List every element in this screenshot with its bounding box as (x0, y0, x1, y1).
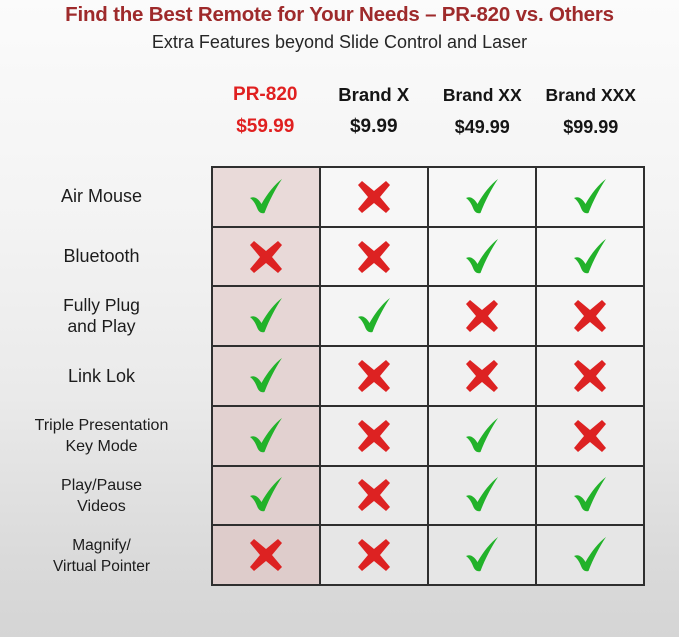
column-price: $99.99 (563, 114, 618, 140)
cross-icon (355, 238, 393, 276)
table-cell (321, 287, 429, 345)
cross-icon (355, 476, 393, 514)
column-header-brand-x: Brand X $9.99 (320, 82, 429, 162)
table-cell (321, 347, 429, 405)
check-icon (460, 176, 504, 218)
cross-icon (355, 357, 393, 395)
table-row (213, 407, 643, 467)
check-icon (244, 355, 288, 397)
feature-label-text: Fully Plugand Play (0, 295, 203, 337)
table-cell (429, 228, 537, 286)
feature-label-text: Bluetooth (0, 246, 203, 267)
column-headers: PR-820 $59.99 Brand X $9.99 Brand XX $49… (211, 82, 645, 162)
cross-icon (463, 357, 501, 395)
table-cell (429, 407, 537, 465)
table-cell (213, 467, 321, 525)
column-price: $59.99 (236, 114, 294, 140)
check-icon (568, 474, 612, 516)
table-cell (213, 168, 321, 226)
feature-label-link-lok: Link Lok (0, 346, 207, 406)
table-cell (321, 526, 429, 584)
table-row (213, 347, 643, 407)
table-cell (321, 168, 429, 226)
check-icon (352, 295, 396, 337)
table-cell (429, 526, 537, 584)
table-cell (321, 228, 429, 286)
table-cell (537, 287, 643, 345)
table-row (213, 467, 643, 527)
cross-icon (571, 357, 609, 395)
check-icon (460, 534, 504, 576)
check-icon (460, 236, 504, 278)
cross-icon (355, 536, 393, 574)
cross-icon (355, 178, 393, 216)
table-cell (537, 347, 643, 405)
check-icon (568, 534, 612, 576)
column-header-brand-xxx: Brand XXX $99.99 (537, 82, 646, 162)
table-cell (213, 526, 321, 584)
check-icon (460, 415, 504, 457)
table-cell (321, 407, 429, 465)
table-cell (537, 168, 643, 226)
check-icon (244, 415, 288, 457)
feature-label-text: Magnify/Virtual Pointer (0, 535, 203, 577)
feature-label-text: Link Lok (0, 366, 203, 387)
column-header-pr-820: PR-820 $59.99 (211, 82, 320, 162)
table-cell (213, 228, 321, 286)
check-icon (460, 474, 504, 516)
cross-icon (247, 536, 285, 574)
table-cell (537, 228, 643, 286)
table-row (213, 168, 643, 228)
comparison-table (211, 166, 645, 586)
table-cell (213, 407, 321, 465)
feature-label-text: Air Mouse (0, 186, 203, 207)
page-subtitle: Extra Features beyond Slide Control and … (0, 30, 679, 54)
column-header-brand-xx: Brand XX $49.99 (428, 82, 537, 162)
column-name: Brand X (338, 82, 409, 108)
check-icon (568, 236, 612, 278)
table-cell (537, 526, 643, 584)
feature-label-text: Triple PresentationKey Mode (0, 415, 203, 457)
check-icon (244, 295, 288, 337)
cross-icon (571, 297, 609, 335)
feature-label-play-pause-videos: Play/PauseVideos (0, 466, 207, 526)
table-cell (321, 467, 429, 525)
feature-label-air-mouse: Air Mouse (0, 166, 207, 226)
check-icon (568, 176, 612, 218)
feature-label-bluetooth: Bluetooth (0, 226, 207, 286)
feature-label-text: Play/PauseVideos (0, 475, 203, 517)
check-icon (244, 176, 288, 218)
column-price: $49.99 (455, 114, 510, 140)
table-row (213, 287, 643, 347)
page-title: Find the Best Remote for Your Needs – PR… (0, 0, 679, 28)
table-cell (429, 287, 537, 345)
table-row (213, 526, 643, 584)
check-icon (244, 474, 288, 516)
column-name: Brand XXX (546, 82, 636, 108)
table-row (213, 228, 643, 288)
table-cell (429, 467, 537, 525)
table-cell (537, 407, 643, 465)
table-cell (537, 467, 643, 525)
column-name: PR-820 (233, 82, 297, 108)
feature-label-magnify-virtual-pointer: Magnify/Virtual Pointer (0, 526, 207, 586)
table-cell (429, 168, 537, 226)
table-cell (429, 347, 537, 405)
comparison-infographic: Find the Best Remote for Your Needs – PR… (0, 0, 679, 637)
column-price: $9.99 (350, 114, 398, 140)
cross-icon (247, 238, 285, 276)
feature-labels: Air Mouse Bluetooth Fully Plugand Play L… (0, 166, 207, 586)
feature-label-fully-plug-and-play: Fully Plugand Play (0, 286, 207, 346)
cross-icon (571, 417, 609, 455)
column-name: Brand XX (443, 82, 522, 108)
table-cell (213, 347, 321, 405)
cross-icon (463, 297, 501, 335)
cross-icon (355, 417, 393, 455)
feature-label-triple-presentation-key-mode: Triple PresentationKey Mode (0, 406, 207, 466)
table-cell (213, 287, 321, 345)
